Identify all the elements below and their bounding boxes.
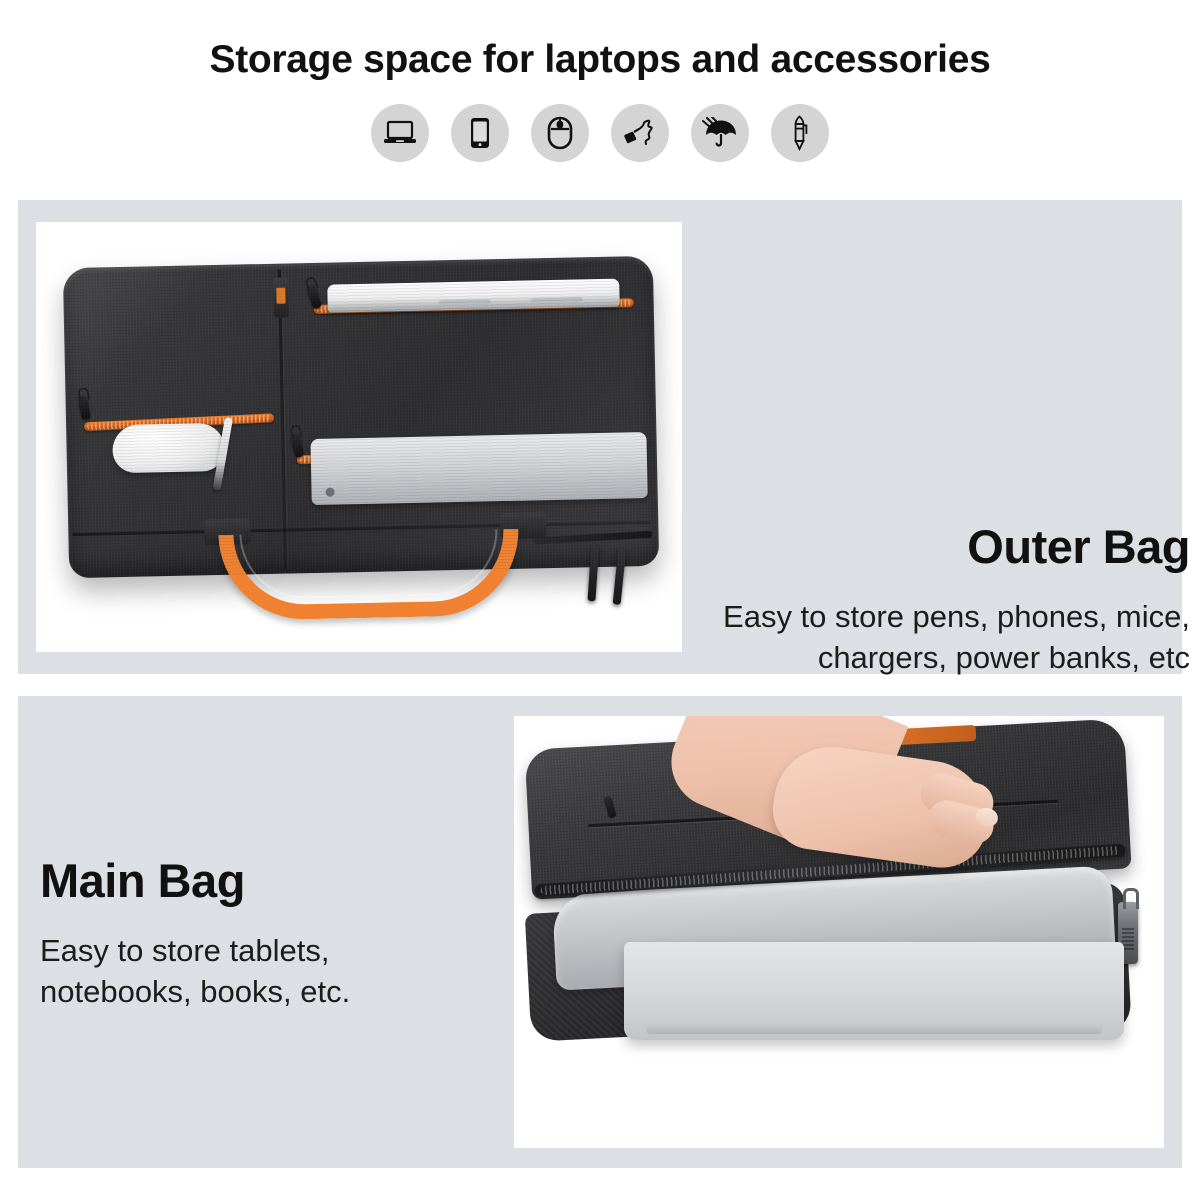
bag-front-illustration — [63, 256, 659, 578]
pen-icon — [771, 104, 829, 162]
mouse-in-pocket — [112, 423, 225, 473]
outer-bag-photo — [36, 222, 682, 652]
charger-icon — [611, 104, 669, 162]
page-title: Storage space for laptops and accessorie… — [0, 0, 1200, 82]
main-bag-description: Easy to store tablets, notebooks, books,… — [40, 931, 460, 1012]
section-outer-bag: Outer Bag Easy to store pens, phones, mi… — [18, 200, 1182, 674]
outer-bag-text-block: Outer Bag Easy to store pens, phones, mi… — [708, 522, 1190, 678]
zipper-pull-left — [78, 395, 91, 420]
main-zipper-pull-1 — [587, 545, 599, 601]
main-zipper-pull-2 — [613, 548, 627, 605]
zipper-pull-top — [306, 284, 322, 310]
main-compartment-zipper — [532, 531, 652, 545]
laptop-icon — [371, 104, 429, 162]
tablet-in-pocket — [310, 432, 647, 505]
feature-icon-row — [0, 104, 1200, 162]
bag-open-illustration — [528, 734, 1132, 1034]
outer-bag-description: Easy to store pens, phones, mice, charge… — [708, 597, 1190, 678]
smartphone-icon — [451, 104, 509, 162]
main-bag-heading: Main Bag — [40, 856, 460, 905]
outer-bag-heading: Outer Bag — [708, 522, 1190, 571]
zipper-pull-lower — [290, 433, 304, 458]
hand-opening-bag — [678, 716, 1008, 902]
section-main-bag: Main Bag Easy to store tablets, notebook… — [18, 696, 1182, 1168]
mouse-icon — [531, 104, 589, 162]
umbrella-icon — [691, 104, 749, 162]
main-bag-text-block: Main Bag Easy to store tablets, notebook… — [40, 856, 460, 1012]
main-bag-photo — [514, 716, 1164, 1148]
brand-label-tag — [273, 277, 289, 317]
orange-carry-handle — [218, 529, 520, 621]
laptop-sliding-out — [624, 942, 1124, 1040]
